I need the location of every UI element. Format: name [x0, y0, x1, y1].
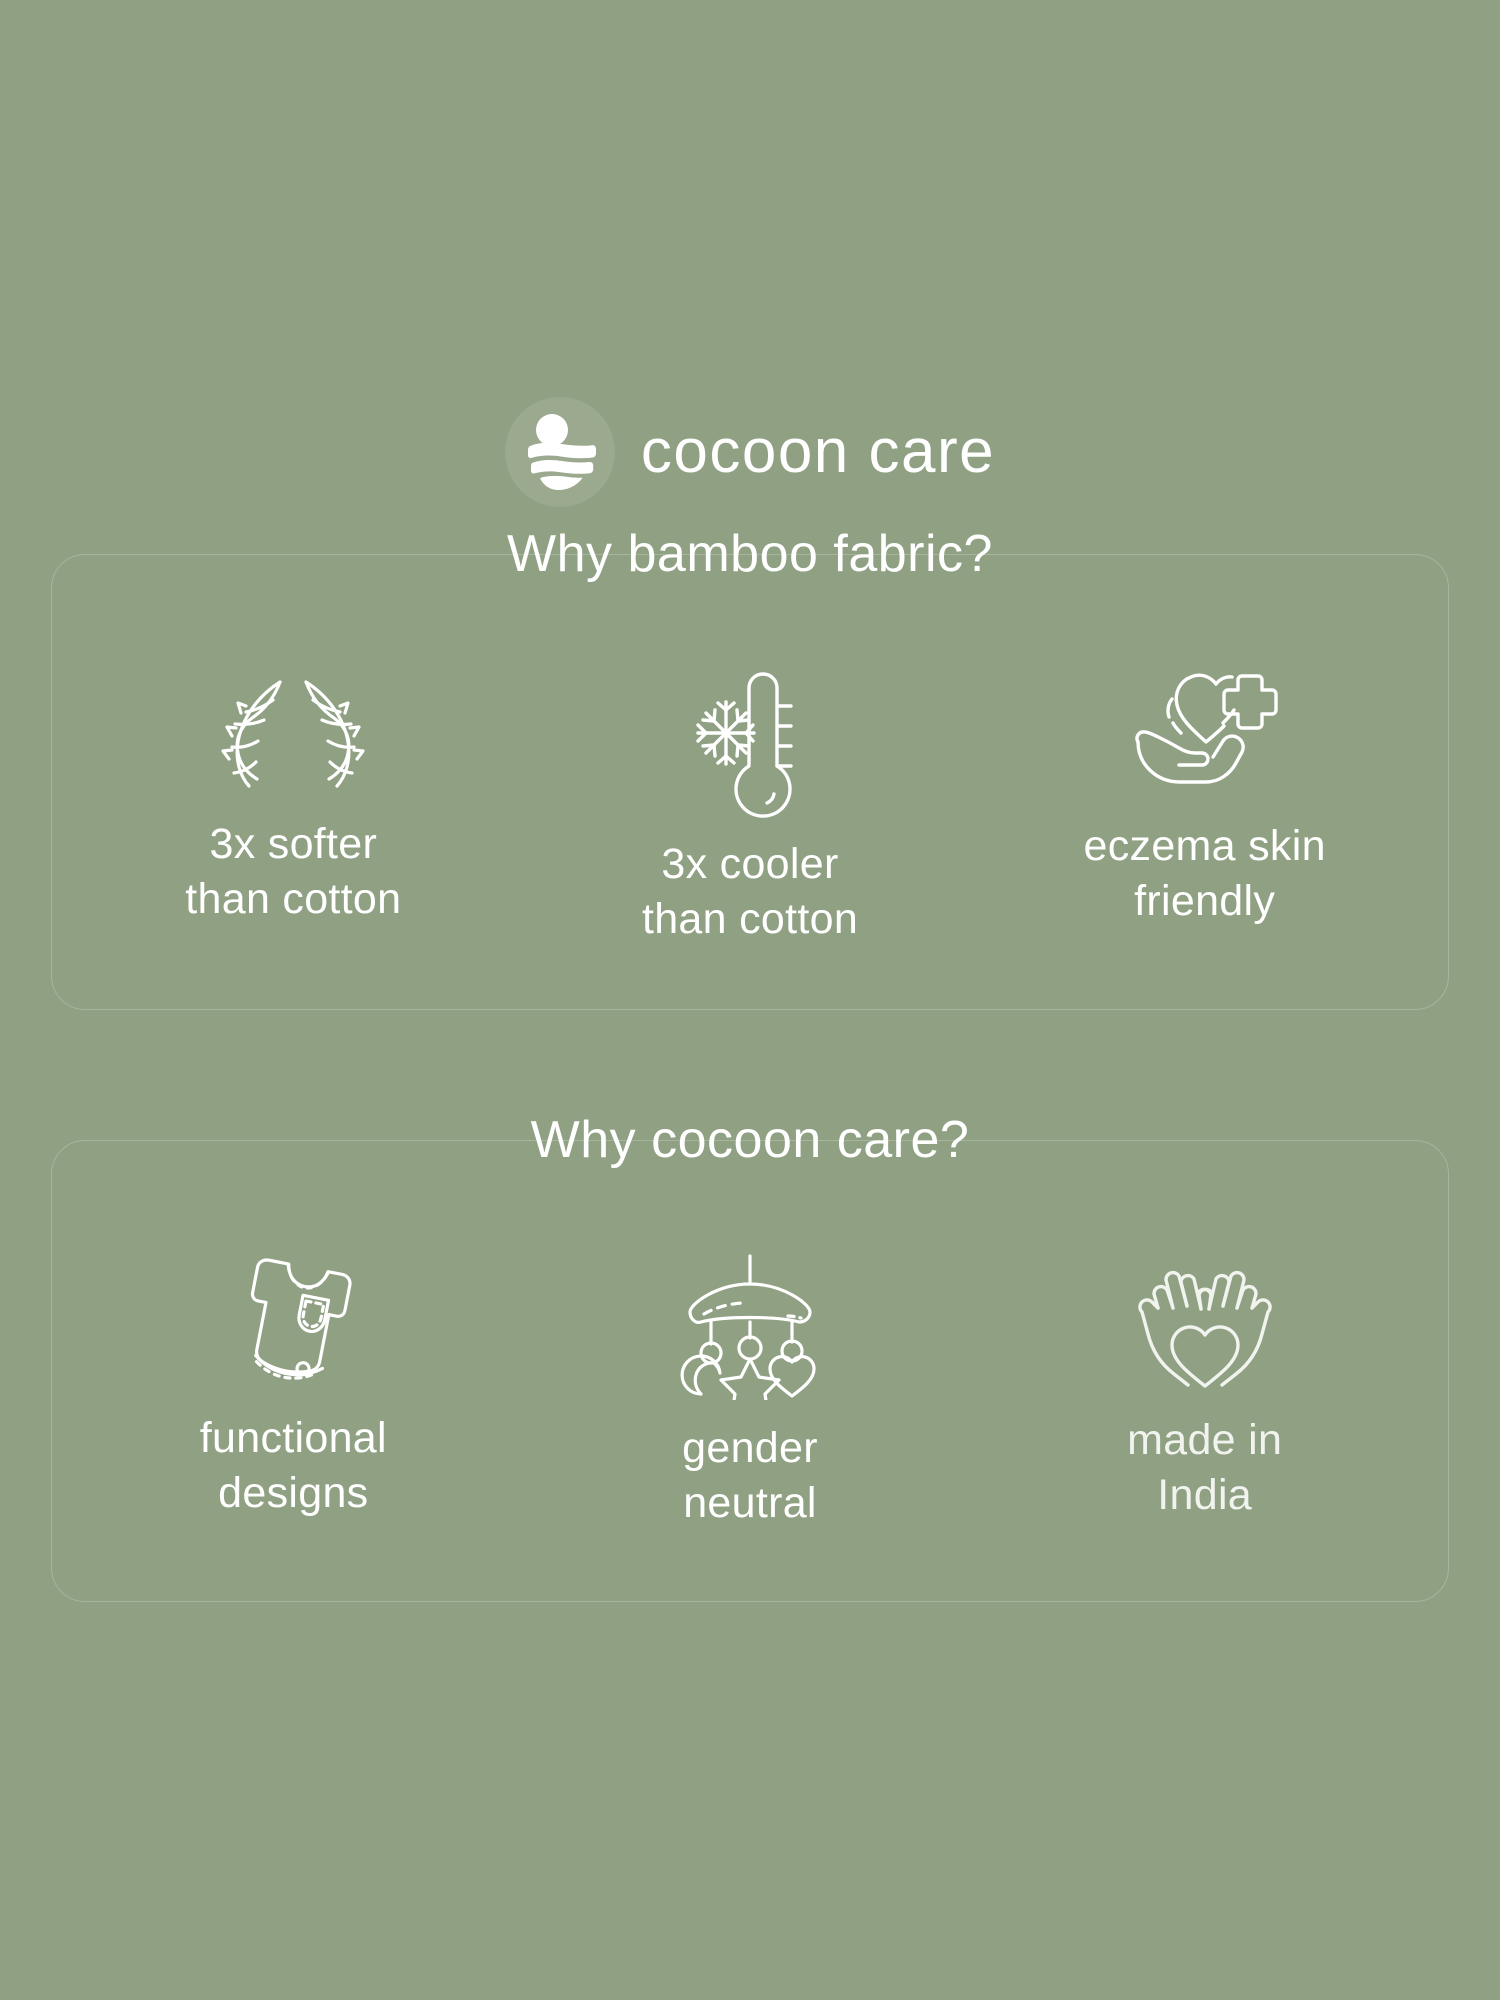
- feature-label: 3x softer than cotton: [185, 817, 401, 927]
- section-title: Why bamboo fabric?: [481, 528, 1019, 580]
- feature-card: functional designs: [51, 1140, 1449, 1602]
- thermometer-snowflake-icon: [688, 657, 812, 827]
- feature-softer: 3x softer than cotton: [72, 647, 515, 947]
- section-why-cocoon-care: Why cocoon care?: [51, 1140, 1449, 1602]
- feature-cooler: 3x cooler than cotton: [529, 647, 972, 947]
- feature-label: made in India: [1127, 1413, 1282, 1523]
- feature-functional-designs: functional designs: [72, 1241, 515, 1531]
- baby-onesie-icon: [225, 1241, 361, 1411]
- feature-label: 3x cooler than cotton: [642, 837, 858, 947]
- feature-eczema: eczema skin friendly: [983, 647, 1426, 947]
- section-title: Why cocoon care?: [505, 1114, 996, 1166]
- feature-label: functional designs: [200, 1411, 387, 1521]
- feature-gender-neutral: gender neutral: [529, 1241, 972, 1531]
- feature-made-in-india: made in India: [983, 1241, 1426, 1531]
- baby-mobile-icon: [678, 1241, 822, 1411]
- brand-name: cocoon care: [641, 421, 995, 483]
- feature-label: eczema skin friendly: [1084, 819, 1326, 929]
- promo-page: cocoon care Why bamboo fabric?: [0, 0, 1500, 2000]
- hand-heart-medical-icon: [1130, 647, 1280, 817]
- feature-label: gender neutral: [682, 1421, 818, 1531]
- feature-card: 3x softer than cotton: [51, 554, 1449, 1010]
- cocoon-swaddle-icon: [505, 397, 615, 507]
- feathers-icon: [218, 647, 368, 817]
- section-why-bamboo-fabric: Why bamboo fabric?: [51, 554, 1449, 1010]
- brand-lockup: cocoon care: [505, 398, 995, 506]
- hands-heart-icon: [1130, 1241, 1280, 1411]
